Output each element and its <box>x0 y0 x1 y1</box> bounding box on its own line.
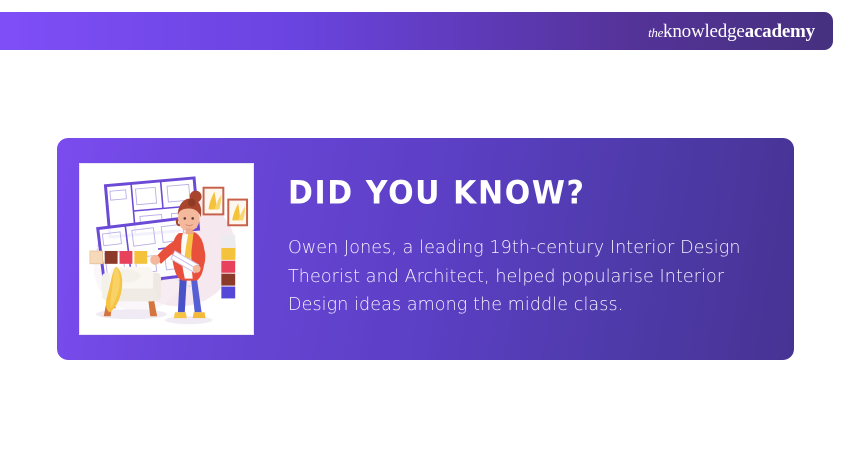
brand-logo-knowledge: knowledge <box>663 21 745 42</box>
illustration-panel <box>79 163 254 335</box>
brand-logo-academy: academy <box>745 21 815 42</box>
interior-designer-illustration <box>80 164 253 334</box>
brand-logo-the: the <box>648 25 663 40</box>
card-text-block: DID YOU KNOW? Owen Jones, a leading 19th… <box>288 178 772 319</box>
card-body-text: Owen Jones, a leading 19th-century Inter… <box>288 234 764 319</box>
framed-art-1-icon <box>204 188 224 215</box>
brand-logo[interactable]: theknowledgeacademy <box>648 22 815 41</box>
did-you-know-card: DID YOU KNOW? Owen Jones, a leading 19th… <box>57 138 794 360</box>
header-bar: theknowledgeacademy <box>0 12 833 50</box>
card-heading: DID YOU KNOW? <box>288 178 764 210</box>
framed-art-2-icon <box>228 200 247 226</box>
armchair-icon <box>96 267 167 319</box>
swatch-column-vertical-icon <box>221 235 235 298</box>
